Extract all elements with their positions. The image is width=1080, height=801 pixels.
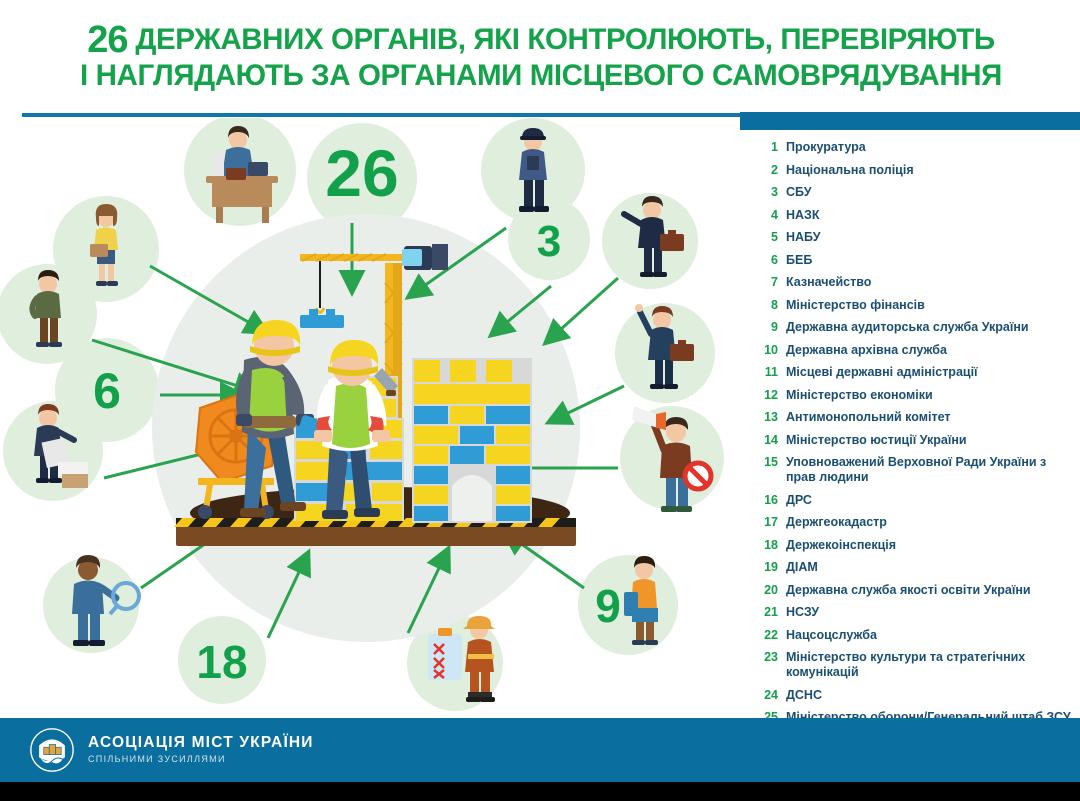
list-item[interactable]: 2 Національна поліція [752,163,1074,178]
list-item-number: 19 [752,560,786,575]
illustration-svg: 26 3 [0,118,740,718]
list-item-number: 15 [752,455,786,470]
list-item-number: 6 [752,253,786,268]
list-item-number: 24 [752,688,786,703]
list-item-label: Міністерство фінансів [786,298,925,313]
list-item-number: 21 [752,605,786,620]
list-item-number: 10 [752,343,786,358]
list-item-label: Міністерство економіки [786,388,933,403]
list-item-label: НАЗК [786,208,820,223]
list-item-number: 16 [752,493,786,508]
list-item-label: Міністерство юстиції України [786,433,967,448]
list-item-number: 12 [752,388,786,403]
list-item[interactable]: 17 Держгеокадастр [752,515,1074,530]
callout-6: 6 [93,363,121,419]
header-blue-bar [740,112,1080,130]
list-item[interactable]: 4 НАЗК [752,208,1074,223]
org-name: АСОЦІАЦІЯ МІСТ УКРАЇНИ [88,734,314,752]
list-item[interactable]: 3 СБУ [752,185,1074,200]
list-item[interactable]: 22 Нацсоцслужба [752,628,1074,643]
list-item-label: ДСНС [786,688,822,703]
association-of-ukrainian-cities-crest-icon [29,727,75,773]
org-tagline: СПІЛЬНИМИ ЗУСИЛЛЯМИ [88,752,314,766]
brick-castle [412,358,532,523]
list-item-label: СБУ [786,185,811,200]
list-item-label: Уповноважений Верховної Ради України з п… [786,455,1074,485]
list-item-number: 13 [752,410,786,425]
list-item[interactable]: 6 БЕБ [752,253,1074,268]
list-item-number: 23 [752,650,786,665]
agency-list: 1 Прокуратура 2 Національна поліція 3 СБ… [752,140,1074,755]
infographic-page: 26 ДЕРЖАВНИХ ОРГАНІВ, ЯКІ КОНТРОЛЮЮТЬ, П… [0,0,1080,801]
list-item[interactable]: 18 Держекоінспекція [752,538,1074,553]
list-item-number: 11 [752,365,786,380]
title-line1: ДЕРЖАВНИХ ОРГАНІВ, ЯКІ КОНТРОЛЮЮТЬ, ПЕРЕ… [135,23,994,56]
title-line2: І НАГЛЯДАЮТЬ ЗА ОРГАНАМИ МІСЦЕВОГО САМОВ… [16,58,1066,93]
list-item-label: Міністерство культури та стратегічних ко… [786,650,1074,680]
list-item-label: НАБУ [786,230,821,245]
list-item-number: 1 [752,140,786,155]
list-item-label: Держгеокадастр [786,515,887,530]
list-item-number: 3 [752,185,786,200]
list-item-number: 8 [752,298,786,313]
list-item-label: Прокуратура [786,140,866,155]
callout-9: 9 [595,580,621,632]
title-number: 26 [87,19,127,61]
list-item-number: 7 [752,275,786,290]
list-item[interactable]: 12 Міністерство економіки [752,388,1074,403]
page-title: 26 ДЕРЖАВНИХ ОРГАНІВ, ЯКІ КОНТРОЛЮЮТЬ, П… [16,22,1066,93]
list-item-label: Державна служба якості освіти України [786,583,1031,598]
list-item[interactable]: 16 ДРС [752,493,1074,508]
list-item-label: Казначейство [786,275,871,290]
callout-26: 26 [325,136,398,210]
list-item-label: БЕБ [786,253,812,268]
list-item-number: 4 [752,208,786,223]
list-item[interactable]: 20 Державна служба якості освіти України [752,583,1074,598]
list-item-label: Антимонопольний комітет [786,410,951,425]
list-item-label: Нацсоцслужба [786,628,877,643]
callout-3: 3 [537,217,561,266]
header: 26 ДЕРЖАВНИХ ОРГАНІВ, ЯКІ КОНТРОЛЮЮТЬ, П… [0,0,1080,112]
list-item-label: Місцеві державні адміністрації [786,365,978,380]
list-item-number: 5 [752,230,786,245]
list-item[interactable]: 8 Міністерство фінансів [752,298,1074,313]
footer: АСОЦІАЦІЯ МІСТ УКРАЇНИ СПІЛЬНИМИ ЗУСИЛЛЯ… [0,718,1080,782]
list-item-number: 9 [752,320,786,335]
list-item-number: 18 [752,538,786,553]
list-item-number: 20 [752,583,786,598]
list-item[interactable]: 14 Міністерство юстиції України [752,433,1074,448]
list-item[interactable]: 10 Державна архівна служба [752,343,1074,358]
list-item[interactable]: 11 Місцеві державні адміністрації [752,365,1074,380]
footer-brand: АСОЦІАЦІЯ МІСТ УКРАЇНИ СПІЛЬНИМИ ЗУСИЛЛЯ… [88,734,314,766]
list-item[interactable]: 15 Уповноважений Верховної Ради України … [752,455,1074,485]
list-item[interactable]: 19 ДІАМ [752,560,1074,575]
list-item-number: 22 [752,628,786,643]
list-item-number: 17 [752,515,786,530]
list-item-label: Держекоінспекція [786,538,896,553]
list-item[interactable]: 13 Антимонопольний комітет [752,410,1074,425]
list-item[interactable]: 23 Міністерство культури та стратегічних… [752,650,1074,680]
list-item-number: 2 [752,163,786,178]
list-item[interactable]: 5 НАБУ [752,230,1074,245]
list-item-label: НСЗУ [786,605,819,620]
list-item-label: ДІАМ [786,560,818,575]
list-item-label: Державна архівна служба [786,343,947,358]
list-item[interactable]: 7 Казначейство [752,275,1074,290]
list-item-number: 14 [752,433,786,448]
list-item[interactable]: 24 ДСНС [752,688,1074,703]
list-item-label: Державна аудиторська служба України [786,320,1029,335]
list-item[interactable]: 1 Прокуратура [752,140,1074,155]
illustration-canvas: 26 3 [0,118,740,718]
list-item[interactable]: 21 НСЗУ [752,605,1074,620]
list-item-label: ДРС [786,493,812,508]
callout-18: 18 [196,636,247,688]
list-item-label: Національна поліція [786,163,914,178]
list-item[interactable]: 9 Державна аудиторська служба України [752,320,1074,335]
bottom-black-bar [0,782,1080,801]
